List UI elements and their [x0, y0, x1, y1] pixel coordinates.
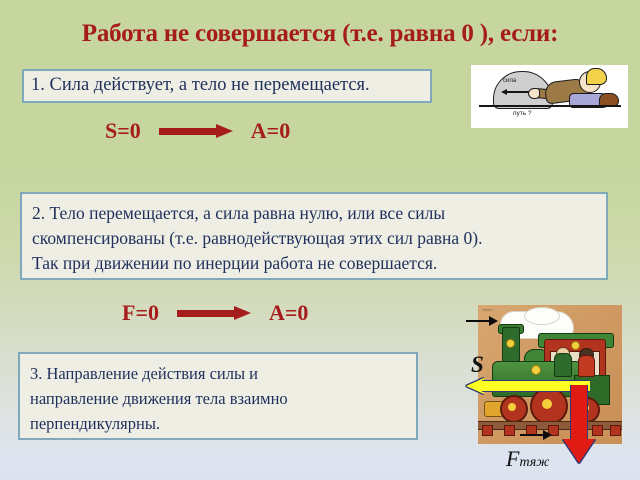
gravity-force-subscript: тяж	[519, 455, 549, 470]
formula-2-left: F=0	[122, 300, 159, 325]
smoke-puff-shape	[524, 307, 560, 325]
rail-tie	[482, 425, 493, 436]
lamp-icon	[571, 341, 580, 350]
condition-3-line-1: 3. Направление действия силы и	[30, 361, 416, 386]
rock-force-label: сила	[503, 78, 516, 84]
condition-3-line-3: перпендикулярны.	[30, 411, 416, 436]
hand-shape	[528, 88, 540, 99]
gravity-force-symbol: F	[506, 446, 519, 471]
displacement-label: S	[471, 352, 484, 378]
rail-tie	[504, 425, 515, 436]
condition-2-line-3: Так при движении по инерции работа не со…	[32, 251, 606, 276]
small-right-arrow-icon-top	[466, 316, 500, 326]
rail-tie	[610, 425, 621, 436]
right-arrow-icon	[159, 124, 233, 138]
driver-body-shape	[554, 353, 572, 377]
lamp-icon	[506, 339, 515, 348]
condition-2-line-1: 2. Тело перемещается, а сила равна нулю,…	[32, 201, 606, 226]
ground-line	[479, 105, 621, 107]
man-pushing-rock-image: сила путь ?	[471, 65, 628, 128]
small-right-arrow-icon-bottom	[520, 430, 554, 440]
formula-1-left: S=0	[105, 118, 141, 143]
lamp-icon	[531, 365, 541, 375]
formula-2-right: A=0	[269, 300, 308, 325]
condition-box-3: 3. Направление действия силы и направлен…	[18, 352, 418, 440]
watermark-text: clipart	[482, 307, 493, 312]
gravity-force-label: Fтяж	[506, 446, 549, 472]
path-label: путь ?	[513, 110, 532, 117]
right-arrow-icon	[177, 306, 251, 320]
condition-1-line-1: 1. Сила действует, а тело не перемещаетс…	[31, 75, 430, 96]
gravity-down-arrow-icon	[563, 385, 595, 463]
wheel-hub	[542, 399, 552, 409]
slide-root: Работа не совершается (т.е. равна 0 ), е…	[0, 0, 640, 480]
passenger-body-shape	[578, 355, 595, 377]
formula-s-zero: S=0 A=0	[105, 118, 290, 144]
wheel-hub	[508, 403, 516, 411]
condition-box-1: 1. Сила действует, а тело не перемещаетс…	[22, 69, 432, 103]
force-left-arrow-icon	[501, 89, 531, 95]
condition-3-line-2: направление движения тела взаимно	[30, 386, 416, 411]
formula-f-zero: F=0 A=0	[122, 300, 308, 326]
condition-box-2: 2. Тело перемещается, а сила равна нулю,…	[20, 192, 608, 280]
page-title: Работа не совершается (т.е. равна 0 ), е…	[0, 20, 640, 48]
condition-2-line-2: скомпенсированы (т.е. равнодействующая э…	[32, 226, 606, 251]
formula-1-right: A=0	[251, 118, 290, 143]
hair-shape	[586, 68, 607, 85]
